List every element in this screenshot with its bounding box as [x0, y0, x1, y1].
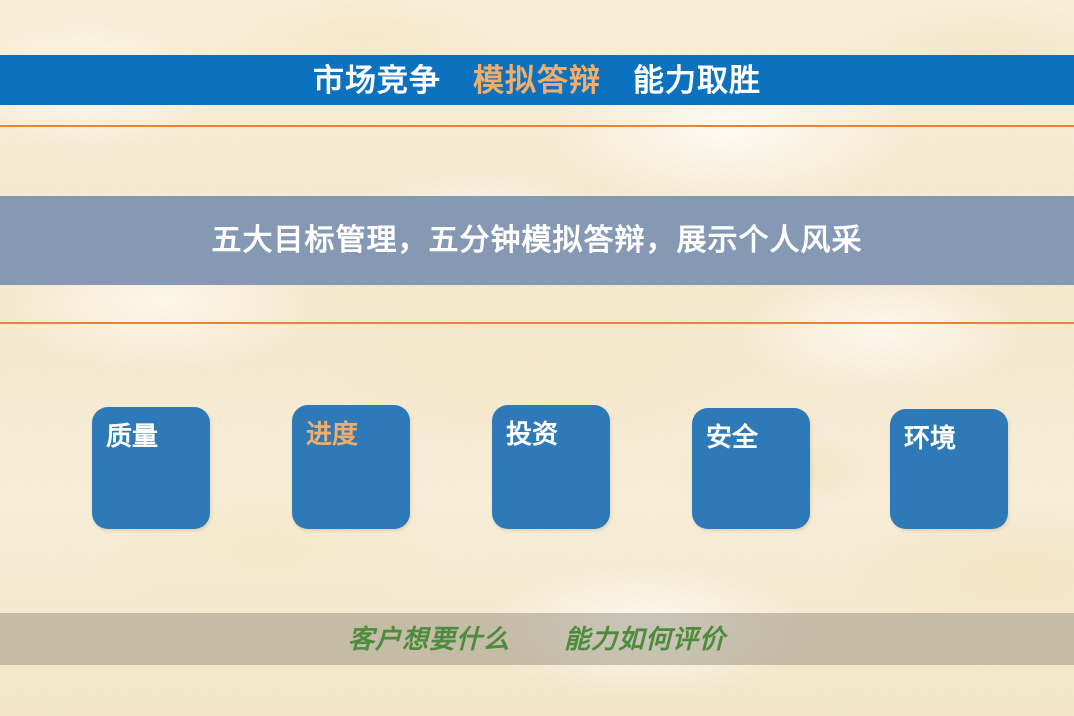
footer-banner: 客户想要什么 能力如何评价 — [0, 613, 1074, 665]
objective-box-label: 投资 — [506, 421, 558, 447]
slide-title: 市场竞争 模拟答辩 能力取胜 — [313, 65, 761, 96]
objective-box-label: 质量 — [106, 423, 158, 449]
slide-title-segment-1: 市场竞争 — [313, 63, 473, 98]
objective-box-safety[interactable]: 安全 — [692, 408, 810, 529]
objective-box-schedule[interactable]: 进度 — [292, 405, 410, 529]
subtitle-banner: 五大目标管理，五分钟模拟答辩，展示个人风采 — [0, 196, 1074, 285]
objective-box-investment[interactable]: 投资 — [492, 405, 610, 529]
objective-box-quality[interactable]: 质量 — [92, 407, 210, 529]
orange-divider-bottom — [0, 322, 1074, 324]
slide-title-segment-accent: 模拟答辩 — [473, 63, 601, 98]
objective-box-label: 安全 — [706, 424, 758, 450]
subtitle-text: 五大目标管理，五分钟模拟答辩，展示个人风采 — [212, 226, 863, 256]
header-banner: 市场竞争 模拟答辩 能力取胜 — [0, 55, 1074, 105]
presentation-slide: 市场竞争 模拟答辩 能力取胜 五大目标管理，五分钟模拟答辩，展示个人风采 质量 … — [0, 0, 1074, 716]
slide-title-segment-2: 能力取胜 — [601, 63, 761, 98]
objective-box-environment[interactable]: 环境 — [890, 409, 1008, 529]
paper-grain-overlay — [0, 0, 1074, 716]
objective-box-label: 环境 — [904, 425, 956, 451]
orange-divider-top — [0, 125, 1074, 127]
objective-box-row: 质量 进度 投资 安全 环境 — [92, 405, 1008, 531]
footer-text: 客户想要什么 能力如何评价 — [348, 626, 726, 652]
objective-box-label: 进度 — [306, 421, 358, 447]
